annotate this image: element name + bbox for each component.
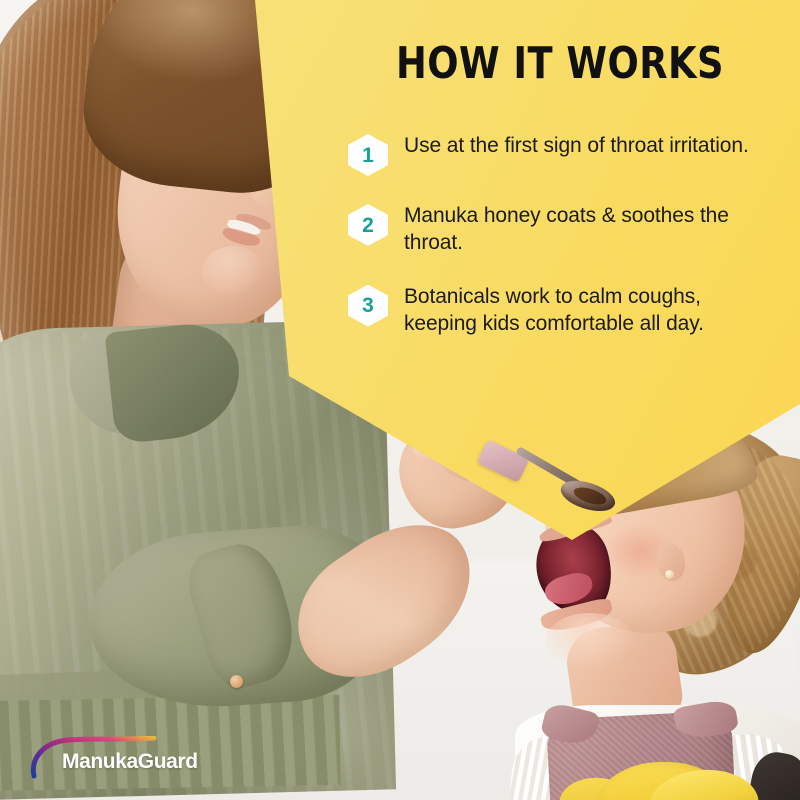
brand-name: ManukaGuard xyxy=(62,750,198,774)
list-item: 2 Manuka honey coats & soothes the throa… xyxy=(348,202,768,257)
step-number-label: 1 xyxy=(362,145,374,166)
list-item: 3 Botanicals work to calm coughs, keepin… xyxy=(348,283,768,338)
promo-graphic: HOW IT WORKS 1 Use at the first sign of … xyxy=(0,0,800,800)
list-item: 1 Use at the first sign of throat irrita… xyxy=(348,132,768,176)
woman-cuff-button xyxy=(230,675,243,688)
step-number-label: 2 xyxy=(362,215,374,236)
steps-list: 1 Use at the first sign of throat irrita… xyxy=(348,132,768,363)
step-text: Botanicals work to calm coughs, keeping … xyxy=(404,283,754,338)
child-earring xyxy=(665,570,674,579)
step-number-badge: 2 xyxy=(348,204,388,246)
step-number-badge: 3 xyxy=(348,285,388,327)
child-chin xyxy=(545,613,635,669)
step-number-badge: 1 xyxy=(348,134,388,176)
step-text: Use at the first sign of throat irritati… xyxy=(404,132,749,159)
woman-chin xyxy=(202,246,264,296)
page-title: HOW IT WORKS xyxy=(396,38,724,89)
step-number-label: 3 xyxy=(362,295,374,316)
brand-logo: ManukaGuard xyxy=(24,736,204,784)
step-text: Manuka honey coats & soothes the throat. xyxy=(404,202,754,257)
